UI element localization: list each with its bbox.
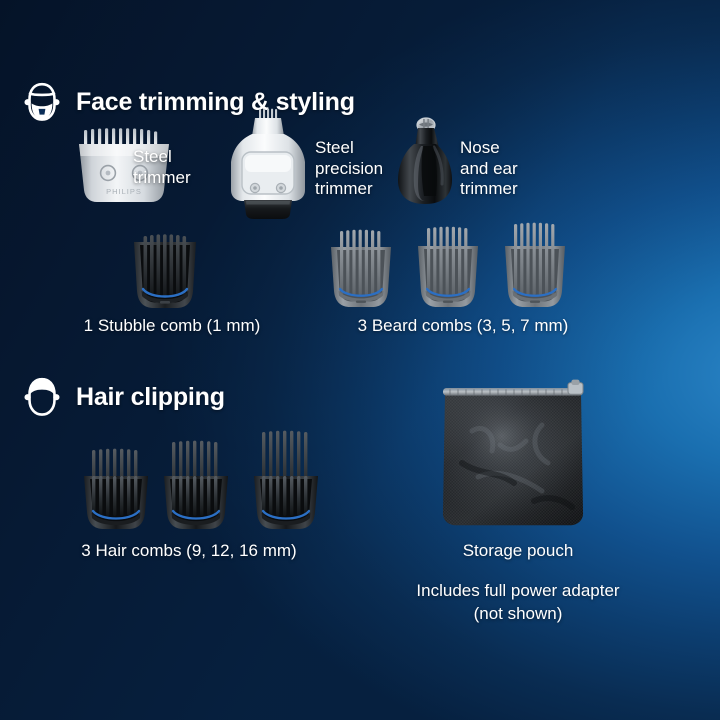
product-hair-comb-12mm	[158, 440, 234, 534]
product-accessories-infographic: Face trimming & styling	[0, 0, 720, 720]
bearded-face-icon	[22, 80, 62, 124]
label-line: trimmer	[133, 168, 191, 189]
label-steel-trimmer: Steel trimmer	[133, 147, 191, 188]
label-steel-precision-trimmer: Steel precision trimmer	[315, 138, 383, 200]
footnote-power-adapter-line2: (not shown)	[474, 603, 563, 625]
caption-beard-combs: 3 Beard combs (3, 5, 7 mm)	[358, 315, 569, 337]
product-stubble-comb	[128, 233, 202, 311]
product-beard-comb-7mm	[499, 222, 571, 311]
label-nose-ear-trimmer: Nose and ear trimmer	[460, 138, 518, 200]
label-line: trimmer	[460, 179, 518, 200]
product-beard-comb-5mm	[412, 226, 484, 311]
caption-stubble-comb: 1 Stubble comb (1 mm)	[84, 315, 261, 337]
zipper-pull-icon	[568, 380, 583, 395]
section-title: Hair clipping	[76, 383, 225, 412]
section-header-hair-clipping: Hair clipping	[22, 375, 225, 419]
label-line: and ear	[460, 159, 518, 180]
product-storage-pouch	[438, 379, 588, 531]
clean-face-icon	[22, 375, 62, 419]
product-hair-comb-9mm	[78, 448, 154, 534]
footnote-power-adapter-line1: Includes full power adapter	[416, 580, 619, 602]
caption-storage-pouch: Storage pouch	[463, 540, 574, 562]
label-line: Steel	[133, 147, 191, 168]
product-hair-comb-16mm	[248, 430, 324, 534]
caption-hair-combs: 3 Hair combs (9, 12, 16 mm)	[81, 540, 296, 562]
label-line: Steel	[315, 138, 383, 159]
label-line: Nose	[460, 138, 518, 159]
product-nose-ear-trimmer	[390, 116, 460, 208]
product-steel-precision-trimmer	[222, 108, 314, 220]
label-line: trimmer	[315, 179, 383, 200]
product-beard-comb-3mm	[325, 229, 397, 311]
label-line: precision	[315, 159, 383, 180]
